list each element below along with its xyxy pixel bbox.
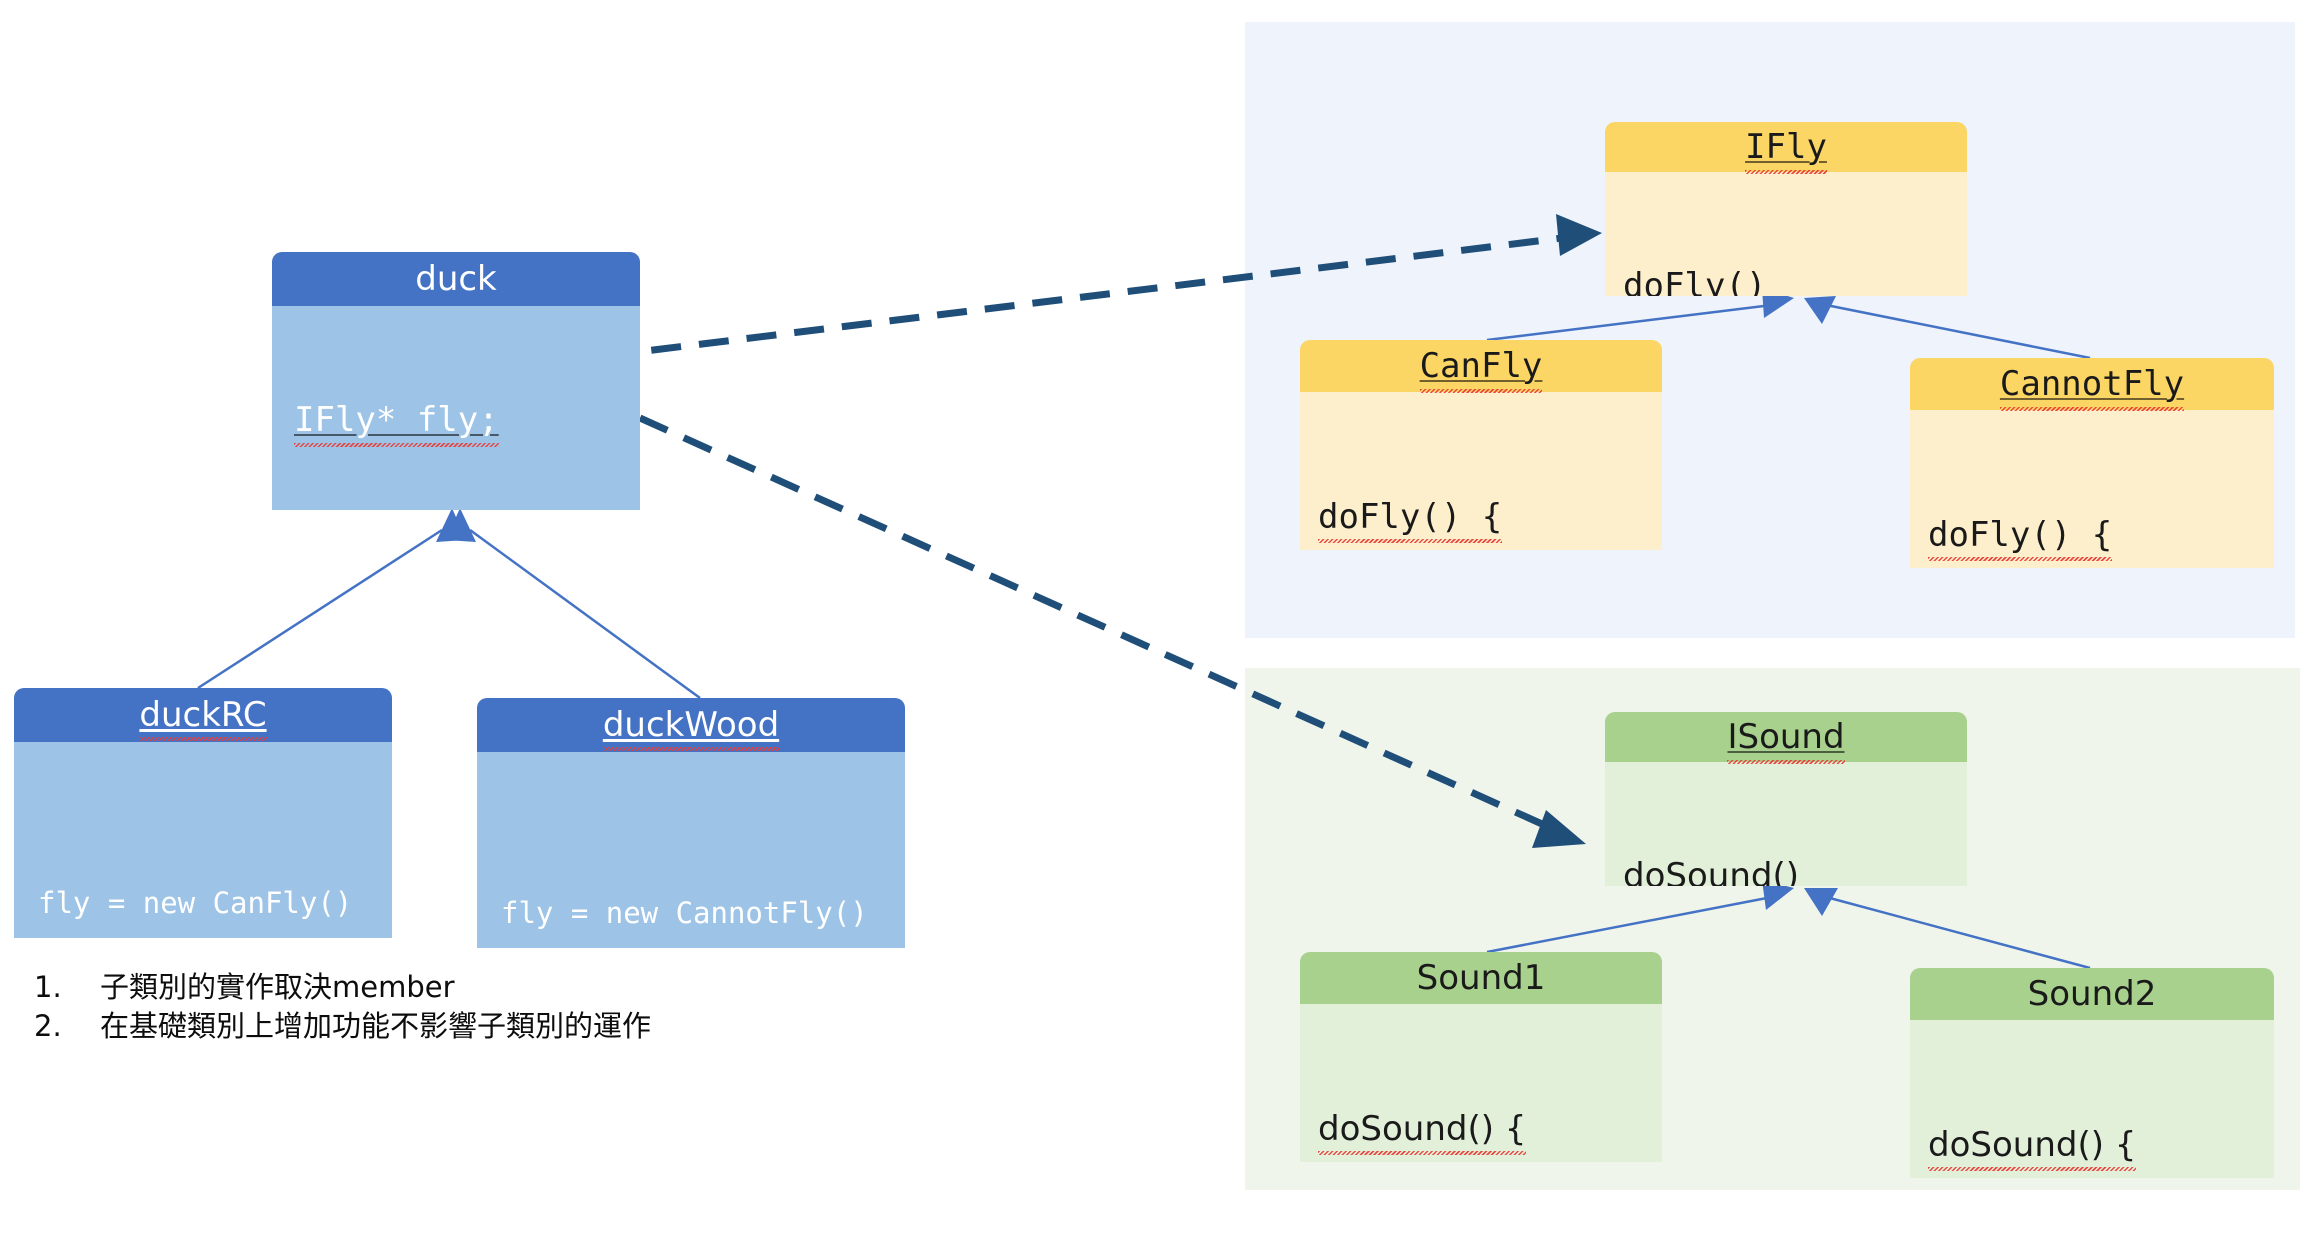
class-box-canfly[interactable]: CanFly doFly() { “Can fly” } xyxy=(1300,340,1662,550)
member-fly-assign-canfly: fly = new CanFly() xyxy=(38,886,392,920)
method-dofly: doFly() xyxy=(1623,266,1766,296)
class-box-duck-title: duck xyxy=(272,252,640,306)
diagram-canvas: duck IFly* fly; Isound* sound; … duckRC … xyxy=(0,0,2318,1258)
class-box-sound1[interactable]: Sound1 doSound() { “Sound1” } xyxy=(1300,952,1662,1162)
class-box-isound-members: doSound() … xyxy=(1605,762,1967,886)
class-box-ifly-title-text: IFly xyxy=(1745,127,1827,167)
method-dofly-open: doFly() { xyxy=(1318,497,1502,537)
edge-duckrc-to-duck xyxy=(198,508,466,688)
member-fly-assign-cannotfly: fly = new CannotFly() xyxy=(501,896,905,930)
notes-list: 1. 子類別的實作取決member 2. 在基礎類別上增加功能不影響子類別的運作 xyxy=(34,968,814,1046)
class-box-cannotfly-title: CannotFly xyxy=(1910,358,2274,410)
method-dosound-open: doSound() { xyxy=(1928,1125,2136,1165)
class-box-isound-title: ISound xyxy=(1605,712,1967,762)
class-box-sound1-title: Sound1 xyxy=(1300,952,1662,1004)
class-box-duckrc-title: duckRC xyxy=(14,688,392,742)
class-box-isound[interactable]: ISound doSound() … xyxy=(1605,712,1967,886)
class-box-duckwood[interactable]: duckWood fly = new CannotFly() xyxy=(477,698,905,948)
class-box-duck-members: IFly* fly; Isound* sound; … xyxy=(272,306,640,510)
method-dosound: doSound() xyxy=(1623,856,1799,886)
class-box-cannotfly-members: doFly() { “Cannot fly” } xyxy=(1910,410,2274,568)
class-box-duckwood-title: duckWood xyxy=(477,698,905,752)
note-item: 1. 子類別的實作取決member xyxy=(34,968,814,1007)
class-box-ifly-title: IFly xyxy=(1605,122,1967,172)
note-text: 在基礎類別上增加功能不影響子類別的運作 xyxy=(100,1007,814,1046)
class-box-ifly-members: doFly() … xyxy=(1605,172,1967,296)
class-box-canfly-title-text: CanFly xyxy=(1420,346,1543,386)
class-box-duckwood-members: fly = new CannotFly() xyxy=(477,752,905,948)
note-number: 2. xyxy=(34,1007,100,1046)
class-box-sound2-members: doSound() { “Sound2” } xyxy=(1910,1020,2274,1178)
class-box-duckwood-title-text: duckWood xyxy=(603,705,779,745)
class-box-canfly-members: doFly() { “Can fly” } xyxy=(1300,392,1662,550)
member-ifly-fly: IFly* fly; xyxy=(294,400,499,440)
edge-duckwood-to-duck xyxy=(446,508,700,698)
class-box-duckrc[interactable]: duckRC fly = new CanFly() xyxy=(14,688,392,938)
class-box-sound2-title: Sound2 xyxy=(1910,968,2274,1020)
class-box-sound1-members: doSound() { “Sound1” } xyxy=(1300,1004,1662,1162)
class-box-duckrc-title-text: duckRC xyxy=(139,695,266,735)
class-box-canfly-title: CanFly xyxy=(1300,340,1662,392)
class-box-isound-title-text: ISound xyxy=(1727,717,1844,757)
method-dosound-open: doSound() { xyxy=(1318,1109,1526,1149)
method-dofly-open: doFly() { xyxy=(1928,515,2112,555)
note-number: 1. xyxy=(34,968,100,1007)
class-box-duck[interactable]: duck IFly* fly; Isound* sound; … xyxy=(272,252,640,510)
class-box-sound2[interactable]: Sound2 doSound() { “Sound2” } xyxy=(1910,968,2274,1178)
note-text: 子類別的實作取決member xyxy=(100,968,814,1007)
class-box-ifly[interactable]: IFly doFly() … xyxy=(1605,122,1967,296)
note-item: 2. 在基礎類別上增加功能不影響子類別的運作 xyxy=(34,1007,814,1046)
class-box-cannotfly[interactable]: CannotFly doFly() { “Cannot fly” } xyxy=(1910,358,2274,568)
class-box-cannotfly-title-text: CannotFly xyxy=(2000,364,2184,404)
class-box-duckrc-members: fly = new CanFly() xyxy=(14,742,392,938)
